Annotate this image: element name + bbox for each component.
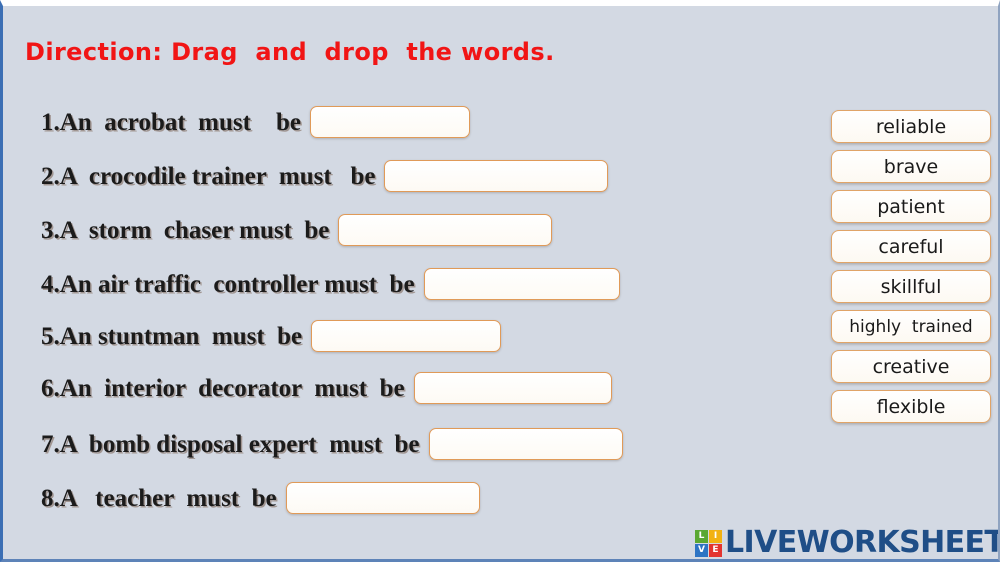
question-row: 1.An acrobat must be bbox=[41, 104, 470, 140]
question-text: 4.An air traffic controller must be bbox=[41, 272, 415, 297]
logo-letter-square: E bbox=[709, 544, 722, 557]
direction-heading: Direction: Drag and drop the words. bbox=[25, 38, 555, 66]
word-tile[interactable]: flexible bbox=[831, 390, 991, 423]
logo-letter-square: L bbox=[695, 530, 708, 543]
question-row: 7.A bomb disposal expert must be bbox=[41, 426, 623, 462]
word-tile[interactable]: creative bbox=[831, 350, 991, 383]
question-text: 2.A crocodile trainer must be bbox=[41, 164, 375, 189]
word-tile[interactable]: careful bbox=[831, 230, 991, 263]
word-tile[interactable]: reliable bbox=[831, 110, 991, 143]
liveworksheets-wordmark: LIVEWORKSHEETS bbox=[725, 528, 1000, 558]
answer-drop-zone[interactable] bbox=[338, 214, 552, 246]
worksheet-canvas: Direction: Drag and drop the words. 1.An… bbox=[0, 0, 1000, 562]
answer-drop-zone[interactable] bbox=[424, 268, 620, 300]
word-tile[interactable]: skillful bbox=[831, 270, 991, 303]
word-bank: reliablebravepatientcarefulskillfulhighl… bbox=[831, 110, 993, 430]
answer-drop-zone[interactable] bbox=[310, 106, 470, 138]
logo-letter-square: I bbox=[709, 530, 722, 543]
liveworksheets-logo: LIVE LIVEWORKSHEETS bbox=[695, 525, 1000, 561]
word-tile[interactable]: brave bbox=[831, 150, 991, 183]
question-text: 6.An interior decorator must be bbox=[41, 376, 405, 401]
question-row: 8.A teacher must be bbox=[41, 480, 480, 516]
answer-drop-zone[interactable] bbox=[286, 482, 480, 514]
answer-drop-zone[interactable] bbox=[384, 160, 608, 192]
question-text: 7.A bomb disposal expert must be bbox=[41, 432, 420, 457]
answer-drop-zone[interactable] bbox=[311, 320, 501, 352]
live-logo-mark-icon: LIVE bbox=[695, 530, 722, 557]
question-text: 5.An stuntman must be bbox=[41, 324, 302, 349]
question-row: 3.A storm chaser must be bbox=[41, 212, 552, 248]
answer-drop-zone[interactable] bbox=[414, 372, 612, 404]
answer-drop-zone[interactable] bbox=[429, 428, 623, 460]
word-tile[interactable]: highly trained bbox=[831, 310, 991, 343]
question-row: 6.An interior decorator must be bbox=[41, 370, 612, 406]
question-row: 5.An stuntman must be bbox=[41, 318, 501, 354]
question-row: 4.An air traffic controller must be bbox=[41, 266, 620, 302]
question-text: 8.A teacher must be bbox=[41, 486, 277, 511]
question-text: 3.A storm chaser must be bbox=[41, 218, 329, 243]
question-row: 2.A crocodile trainer must be bbox=[41, 158, 608, 194]
word-tile[interactable]: patient bbox=[831, 190, 991, 223]
logo-letter-square: V bbox=[695, 544, 708, 557]
question-text: 1.An acrobat must be bbox=[41, 110, 301, 135]
